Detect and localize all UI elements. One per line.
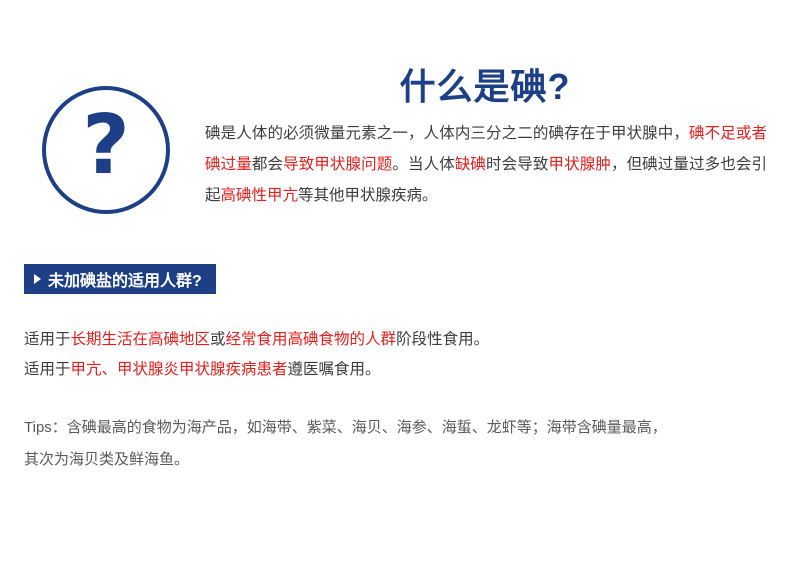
section-header-label: 未加碘盐的适用人群? <box>48 267 202 291</box>
question-mark-circle-icon: ? <box>42 86 170 214</box>
line2-part: 适用于 <box>24 361 71 378</box>
intro-segment-highlight: 高碘性甲亢 <box>221 187 299 204</box>
line1-part: 阶段性食用。 <box>396 331 489 348</box>
tips-line-1: Tips：含碘最高的食物为海产品，如海带、紫菜、海贝、海参、海蜇、龙虾等；海带含… <box>24 412 774 444</box>
intro-segment-highlight: 缺碘 <box>455 156 486 173</box>
intro-segment: 碘是人体的必须微量元素之一，人体内三分之二的碘存在于甲状腺中， <box>205 125 689 142</box>
intro-paragraph: 碘是人体的必须微量元素之一，人体内三分之二的碘存在于甲状腺中，碘不足或者碘过量都… <box>205 118 767 211</box>
line2-part: 遵医嘱食用。 <box>288 361 381 378</box>
intro-segment: 都会 <box>252 156 283 173</box>
intro-segment: 等其他甲状腺疾病。 <box>298 187 438 204</box>
intro-segment-highlight: 导致甲状腺问题 <box>283 156 392 173</box>
hero-section: ? 什么是碘? 碘是人体的必须微量元素之一，人体内三分之二的碘存在于甲状腺中，碘… <box>0 44 790 224</box>
line1-part: 适用于 <box>24 331 71 348</box>
applicable-groups-line-2: 适用于甲亢、甲状腺炎甲状腺疾病患者遵医嘱食用。 <box>24 355 774 385</box>
tips-line-2: 其次为海贝类及鲜海鱼。 <box>24 444 774 476</box>
question-mark-glyph: ? <box>82 105 130 187</box>
page-title: 什么是碘? <box>205 58 765 110</box>
infographic-page: ? 什么是碘? 碘是人体的必须微量元素之一，人体内三分之二的碘存在于甲状腺中，碘… <box>0 0 790 573</box>
intro-segment: 。当人体 <box>392 156 454 173</box>
tips-block: Tips：含碘最高的食物为海产品，如海带、紫菜、海贝、海参、海蜇、龙虾等；海带含… <box>24 412 774 476</box>
line1-part: 或 <box>210 331 226 348</box>
applicable-groups-line-1: 适用于长期生活在高碘地区或经常食用高碘食物的人群阶段性食用。 <box>24 325 774 355</box>
line1-part-highlight: 长期生活在高碘地区 <box>71 331 211 348</box>
intro-segment-highlight: 甲状腺肿 <box>549 156 611 173</box>
applicable-groups-list: 适用于长期生活在高碘地区或经常食用高碘食物的人群阶段性食用。 适用于甲亢、甲状腺… <box>24 325 774 385</box>
section-header: 未加碘盐的适用人群? <box>24 264 216 294</box>
intro-segment: 时会导致 <box>486 156 548 173</box>
line2-part-highlight: 甲亢、甲状腺炎甲状腺疾病患者 <box>71 361 288 378</box>
line1-part-highlight: 经常食用高碘食物的人群 <box>226 331 397 348</box>
triangle-right-icon <box>34 274 41 284</box>
